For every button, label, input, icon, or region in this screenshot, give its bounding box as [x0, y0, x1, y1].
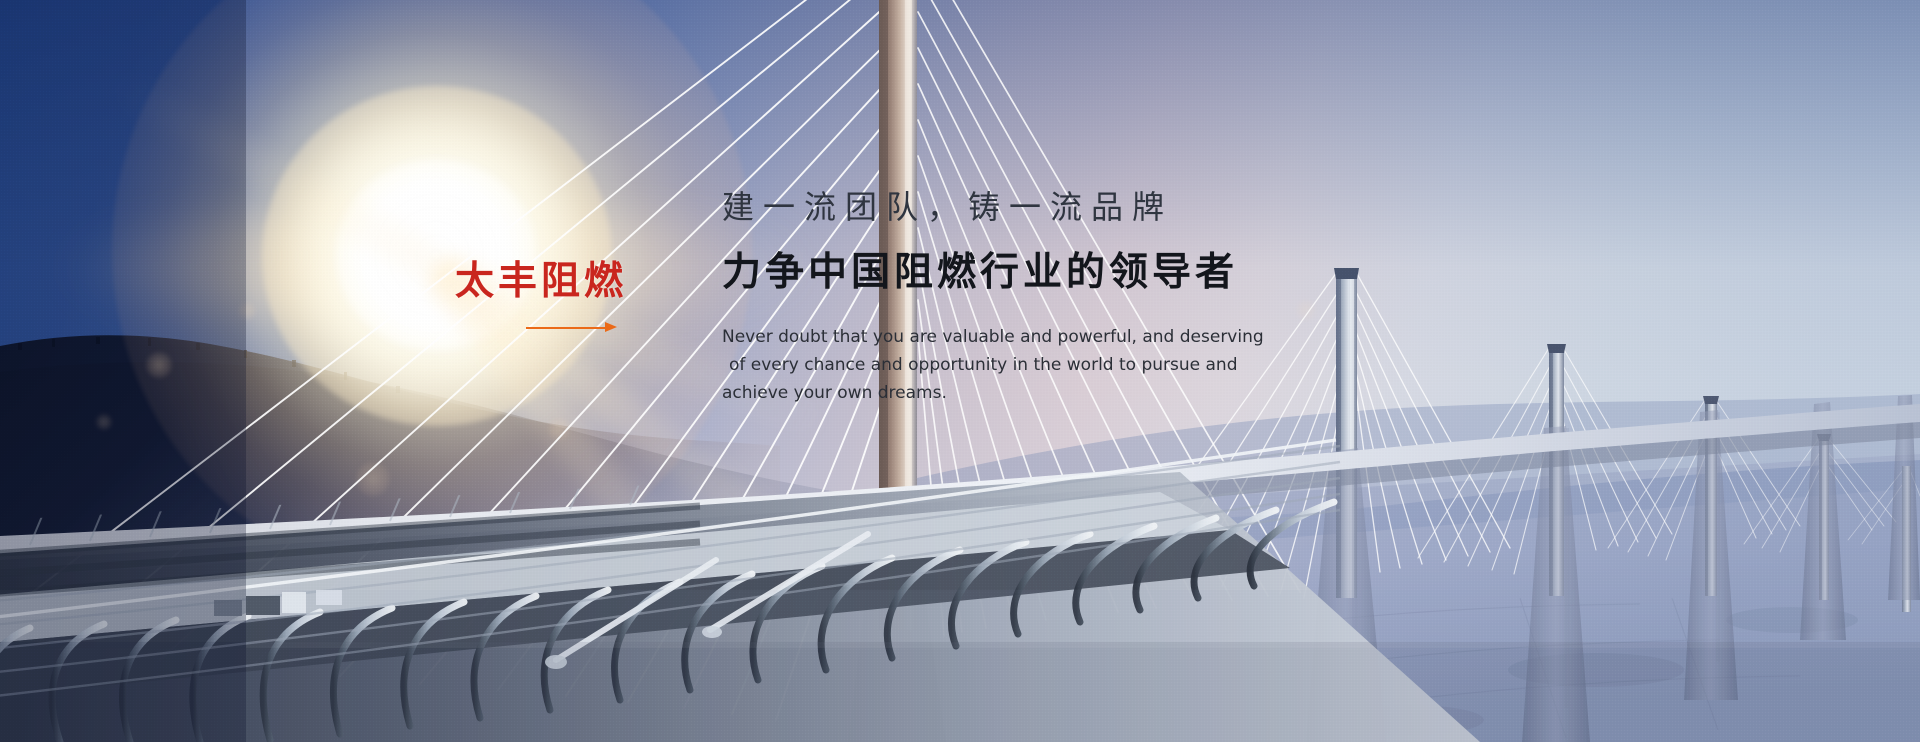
brand-logo-text: 太丰阻燃 [455, 262, 655, 301]
headline-block: 建一流团队，铸一流品牌 力争中国阻燃行业的领导者 Never doubt tha… [722, 188, 1264, 407]
subcopy-line-3: achieve your own dreams. [722, 379, 1264, 407]
tagline: 建一流团队，铸一流品牌 [722, 188, 1264, 226]
arrow-right-icon [526, 322, 617, 333]
subcopy-paragraph: Never doubt that you are valuable and po… [722, 323, 1264, 407]
banner-content: 太丰阻燃 建一流团队，铸一流品牌 力争中国阻燃行业的领导者 Never doub… [0, 0, 1920, 742]
subcopy-line-2: of every chance and opportunity in the w… [722, 351, 1264, 379]
subcopy-line-1: Never doubt that you are valuable and po… [722, 323, 1264, 351]
page-title: 力争中国阻燃行业的领导者 [722, 250, 1264, 297]
arrow-shaft [526, 327, 610, 329]
hero-banner: 太丰阻燃 建一流团队，铸一流品牌 力争中国阻燃行业的领导者 Never doub… [0, 0, 1920, 742]
brand-logo[interactable]: 太丰阻燃 [455, 262, 655, 333]
arrow-head [605, 322, 617, 332]
